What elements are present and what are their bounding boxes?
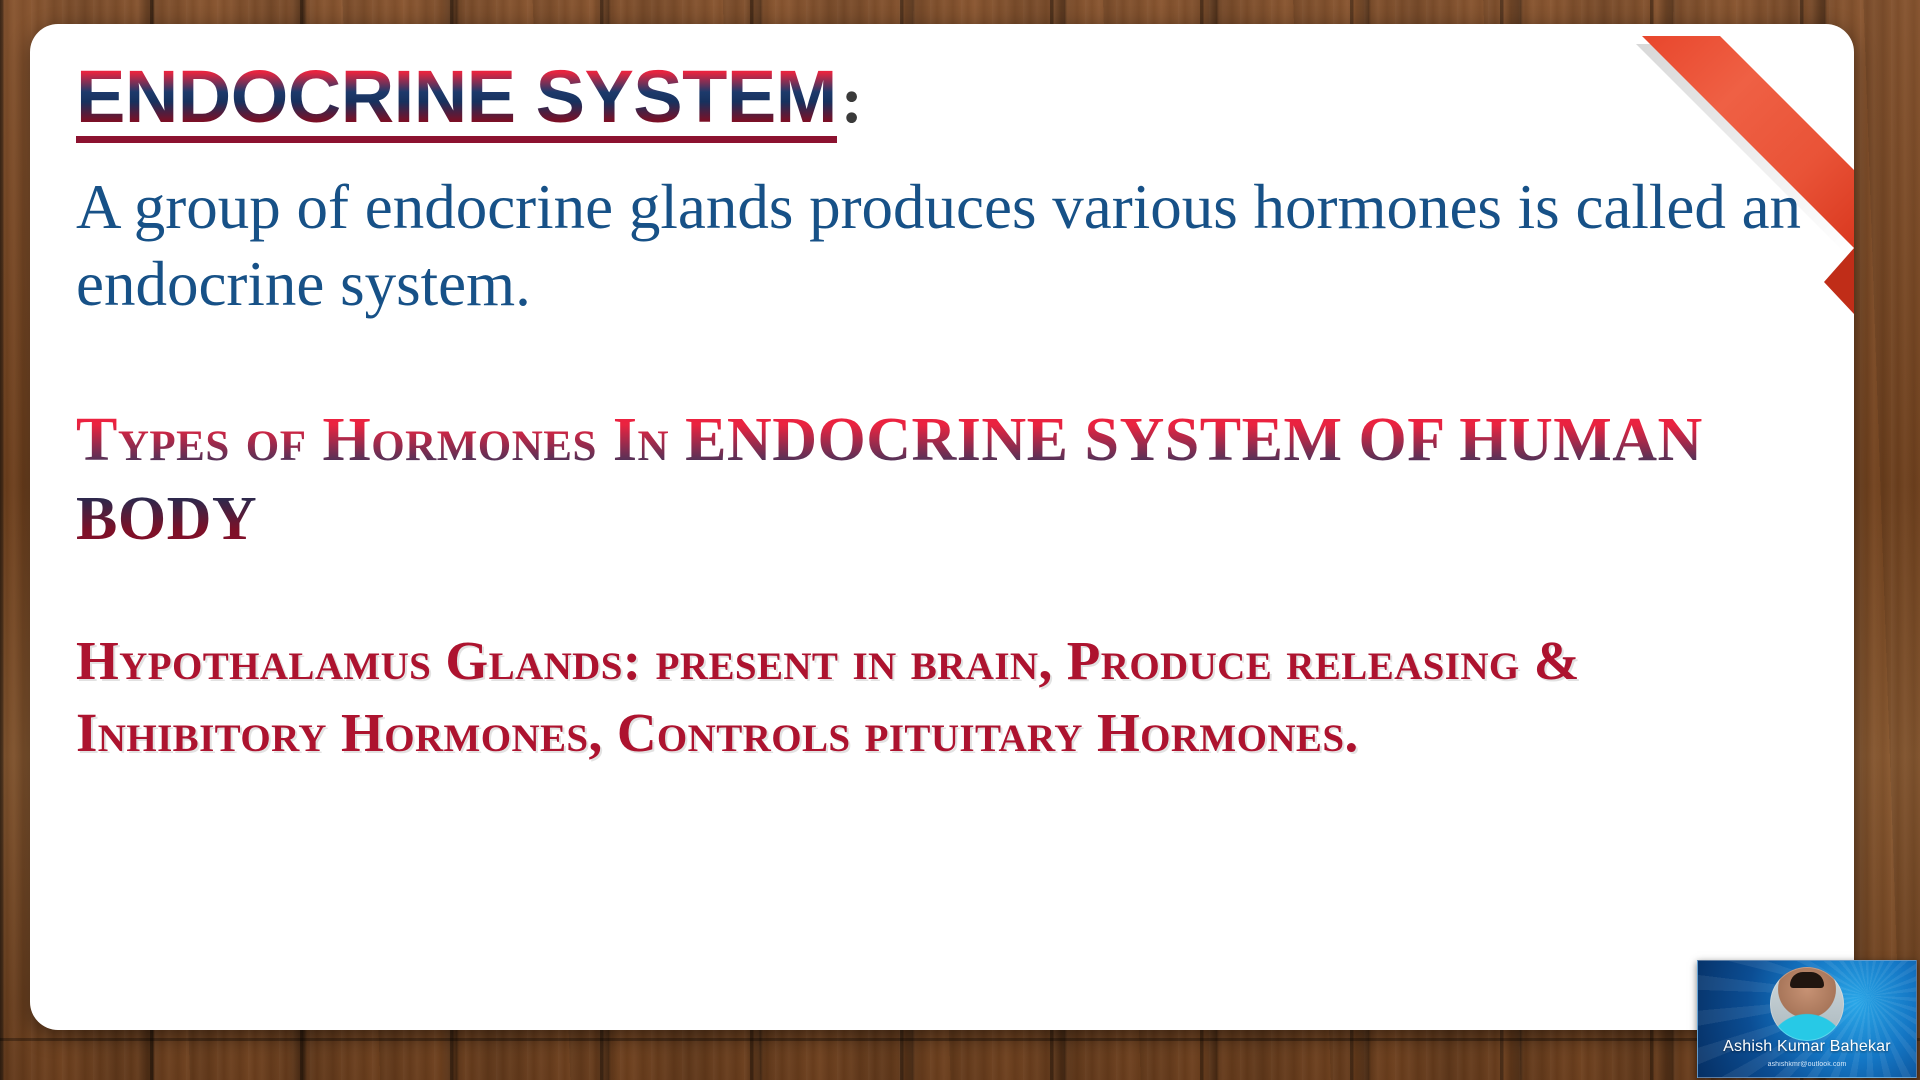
hypothalamus-glands-paragraph: Hypothalamus Glands: present in brain, P… [76,625,1814,768]
title-text: ENDOCRINE SYSTEM [76,60,837,143]
title-colon: : [841,64,863,137]
slide-canvas: ENDOCRINE SYSTEM: A group of endocrine g… [0,0,1920,1080]
avatar-hair [1790,972,1824,988]
intro-paragraph: A group of endocrine glands produces var… [76,169,1814,323]
presenter-name: Ashish Kumar Bahekar [1698,1038,1916,1056]
content-card: ENDOCRINE SYSTEM: A group of endocrine g… [30,24,1854,1030]
wood-plank-seam [0,1038,1920,1041]
page-title: ENDOCRINE SYSTEM: [76,60,1814,143]
card-content-area: ENDOCRINE SYSTEM: A group of endocrine g… [76,60,1814,768]
section-heading: Types of Hormones In ENDOCRINE SYSTEM OF… [76,401,1776,560]
presenter-email: ashishkmr@outlook.com [1698,1061,1916,1068]
presenter-watermark: Ashish Kumar Bahekar ashishkmr@outlook.c… [1697,960,1917,1078]
